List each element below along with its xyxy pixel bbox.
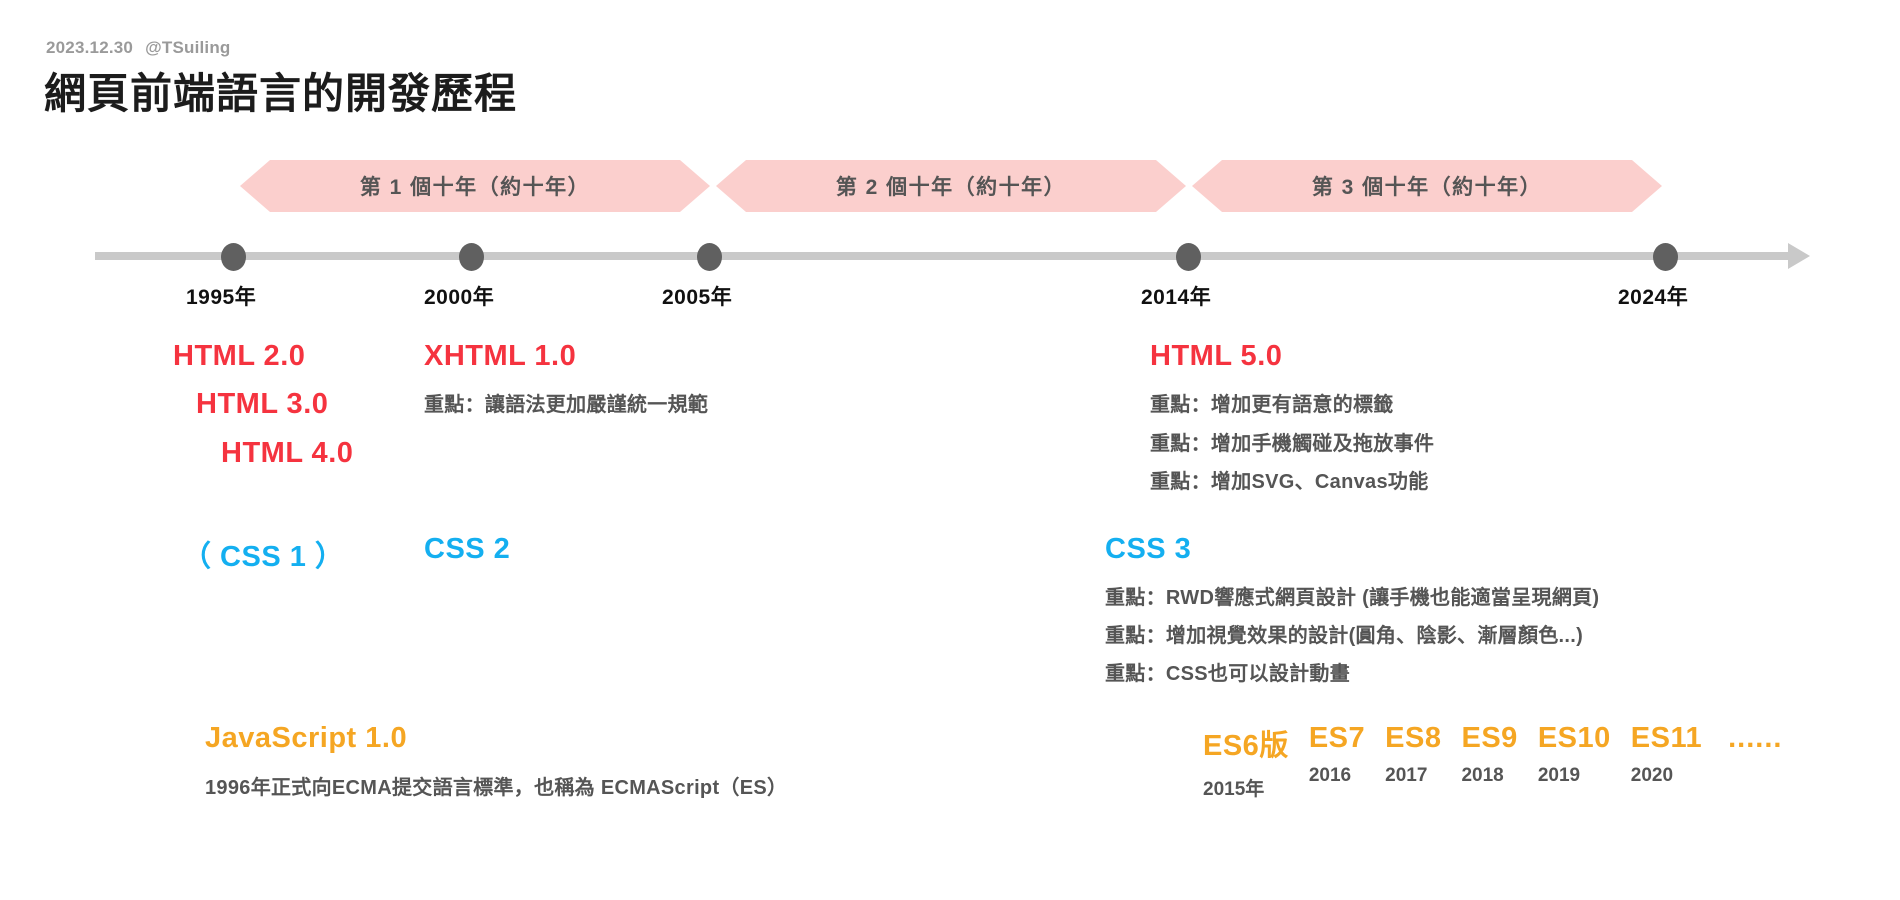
es-year-5: 2020 xyxy=(1631,765,1702,787)
decade-label-3: 第 3 個十年（約十年） xyxy=(1312,171,1542,201)
html-5-note-2: 重點：增加手機觸碰及拖放事件 xyxy=(1150,427,1434,456)
decade-label-1: 第 1 個十年（約十年） xyxy=(360,171,590,201)
css-3-note-3: 重點：CSS也可以設計動畫 xyxy=(1105,657,1350,686)
javascript-1-note: 1996年正式向ECMA提交語言標準，也稱為 ECMAScript（ES） xyxy=(205,771,787,800)
es-year-0: 2015年 xyxy=(1203,774,1289,801)
es-item-0: ES6版 2015年 xyxy=(1203,722,1289,801)
html-5-note-3: 重點：增加SVG、Canvas功能 xyxy=(1150,465,1429,494)
es-item-3: ES9 2018 xyxy=(1461,722,1517,787)
es-name-0: ES6版 xyxy=(1203,722,1289,764)
css-2-label: CSS 2 xyxy=(424,533,510,566)
timeline-year-2005: 2005年 xyxy=(662,281,732,311)
html-2-label: HTML 2.0 xyxy=(173,340,305,373)
html-3-label: HTML 3.0 xyxy=(196,388,328,421)
es-item-4: ES10 2019 xyxy=(1538,722,1611,787)
timeline-arrowhead-icon xyxy=(1788,243,1810,269)
timeline-node-2024 xyxy=(1653,243,1678,271)
timeline-node-1995 xyxy=(221,243,246,271)
es-year-4: 2019 xyxy=(1538,765,1611,787)
infographic-canvas: 2023.12.30@TSuiling 網頁前端語言的開發歷程 第 1 個十年（… xyxy=(0,0,1900,900)
es-name-2: ES8 xyxy=(1385,722,1441,755)
es-year-1: 2016 xyxy=(1309,765,1365,787)
timeline-year-2000: 2000年 xyxy=(424,281,494,311)
css-1-label: （ CSS 1 ） xyxy=(182,533,344,575)
page-title: 網頁前端語言的開發歷程 xyxy=(44,60,517,121)
html-5-label: HTML 5.0 xyxy=(1150,340,1282,373)
css-3-label: CSS 3 xyxy=(1105,533,1191,566)
css-3-note-2: 重點：增加視覺效果的設計(圓角、陰影、漸層顏色...) xyxy=(1105,619,1583,648)
es-item-5: ES11 2020 xyxy=(1631,722,1702,787)
byline-date: 2023.12.30 xyxy=(46,38,133,57)
es-more-ellipsis: ...... xyxy=(1728,722,1782,755)
decade-band-2: 第 2 個十年（約十年） xyxy=(716,160,1186,212)
decade-band-1: 第 1 個十年（約十年） xyxy=(240,160,710,212)
byline-author: @TSuiling xyxy=(145,38,230,57)
xhtml-1-note-1: 重點：讓語法更加嚴謹統一規範 xyxy=(424,388,708,417)
timeline-node-2014 xyxy=(1176,243,1201,271)
timeline-year-2024: 2024年 xyxy=(1618,281,1688,311)
xhtml-1-label: XHTML 1.0 xyxy=(424,340,576,373)
es-item-2: ES8 2017 xyxy=(1385,722,1441,787)
es-name-3: ES9 xyxy=(1461,722,1517,755)
decade-label-2: 第 2 個十年（約十年） xyxy=(836,171,1066,201)
es-name-1: ES7 xyxy=(1309,722,1365,755)
es-name-5: ES11 xyxy=(1631,722,1702,755)
decade-band-3: 第 3 個十年（約十年） xyxy=(1192,160,1662,212)
css-3-note-1: 重點：RWD響應式網頁設計 (讓手機也能適當呈現網頁) xyxy=(1105,581,1599,610)
es-name-4: ES10 xyxy=(1538,722,1611,755)
timeline-node-2005 xyxy=(697,243,722,271)
timeline-node-2000 xyxy=(459,243,484,271)
html-4-label: HTML 4.0 xyxy=(221,437,353,470)
es-version-row: ES6版 2015年 ES7 2016 ES8 2017 ES9 2018 ES… xyxy=(1203,722,1782,801)
timeline-year-2014: 2014年 xyxy=(1141,281,1211,311)
timeline-year-1995: 1995年 xyxy=(186,281,256,311)
es-year-3: 2018 xyxy=(1461,765,1517,787)
timeline-axis xyxy=(95,252,1795,260)
byline: 2023.12.30@TSuiling xyxy=(46,38,231,58)
html-5-note-1: 重點：增加更有語意的標籤 xyxy=(1150,388,1394,417)
es-year-2: 2017 xyxy=(1385,765,1441,787)
es-item-1: ES7 2016 xyxy=(1309,722,1365,787)
javascript-1-label: JavaScript 1.0 xyxy=(205,722,407,755)
